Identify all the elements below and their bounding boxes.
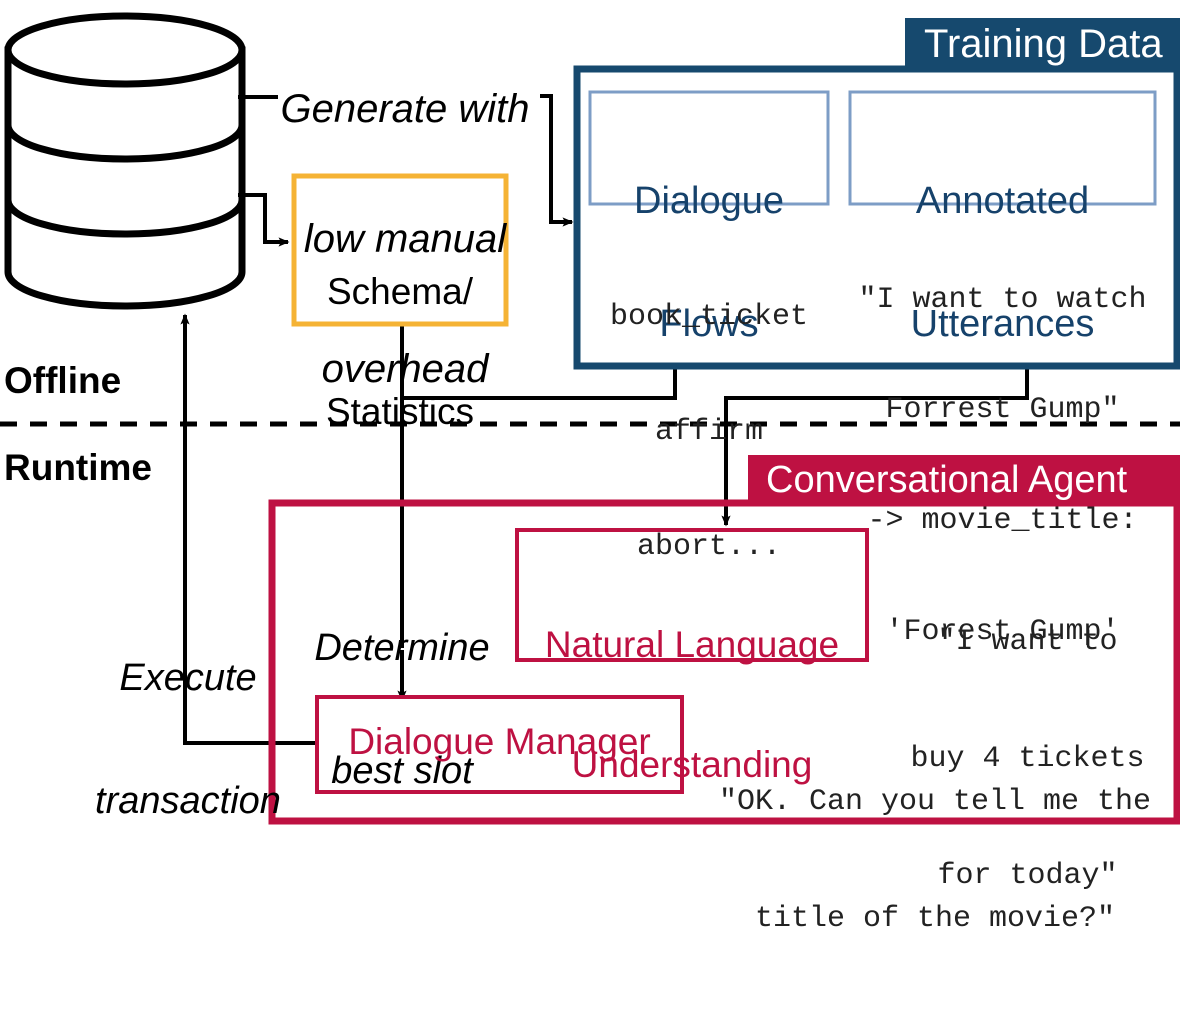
annotated-utterances-sample-line3: -> movie_title: (845, 503, 1160, 540)
conversational-agent-header-label: Conversational Agent (766, 461, 1127, 499)
annotated-utterances-sample-line2: Forrest Gump" (845, 392, 1160, 429)
agent-utterance-line1: "OK. Can you tell me the (700, 783, 1170, 822)
diagram-canvas: Generate with low manual overhead Schema… (0, 0, 1180, 825)
schema-statistics-line2: Statistics (294, 392, 506, 432)
training-data-header-label: Training Data (924, 24, 1163, 64)
schema-statistics-line1: Schema/ (294, 272, 506, 312)
agent-utterance-line2: title of the movie?" (700, 900, 1170, 939)
edge-generate-to-training-data (540, 96, 572, 222)
runtime-label: Runtime (4, 448, 152, 488)
edge-label-execute-line2: transaction (88, 781, 288, 822)
edge-label-execute-line1: Execute (88, 658, 288, 699)
dialogue-manager-title: Dialogue Manager (317, 722, 682, 762)
edge-label-determine-line1: Determine (306, 628, 498, 669)
database-cylinder (8, 16, 242, 306)
schema-statistics-label: Schema/ Statistics (294, 192, 506, 512)
dialogue-flows-sample-line1: book_ticket (590, 298, 828, 336)
dialogue-flows-sample-line2: affirm (590, 413, 828, 451)
dialogue-flows-title-line1: Dialogue (590, 181, 828, 222)
agent-utterance: "OK. Can you tell me the title of the mo… (700, 705, 1170, 1017)
annotated-utterances-sample-line1: "I want to watch (845, 282, 1160, 319)
edge-label-generate-line1: Generate with (270, 88, 540, 131)
user-utterance-line1: "I want to (885, 623, 1170, 662)
edge-label-determine-best-slot: Determine best slot (306, 546, 498, 874)
nlu-title-line1: Natural Language (517, 625, 867, 665)
offline-label: Offline (4, 361, 121, 401)
edge-label-execute-transaction: Execute transaction (88, 576, 288, 904)
